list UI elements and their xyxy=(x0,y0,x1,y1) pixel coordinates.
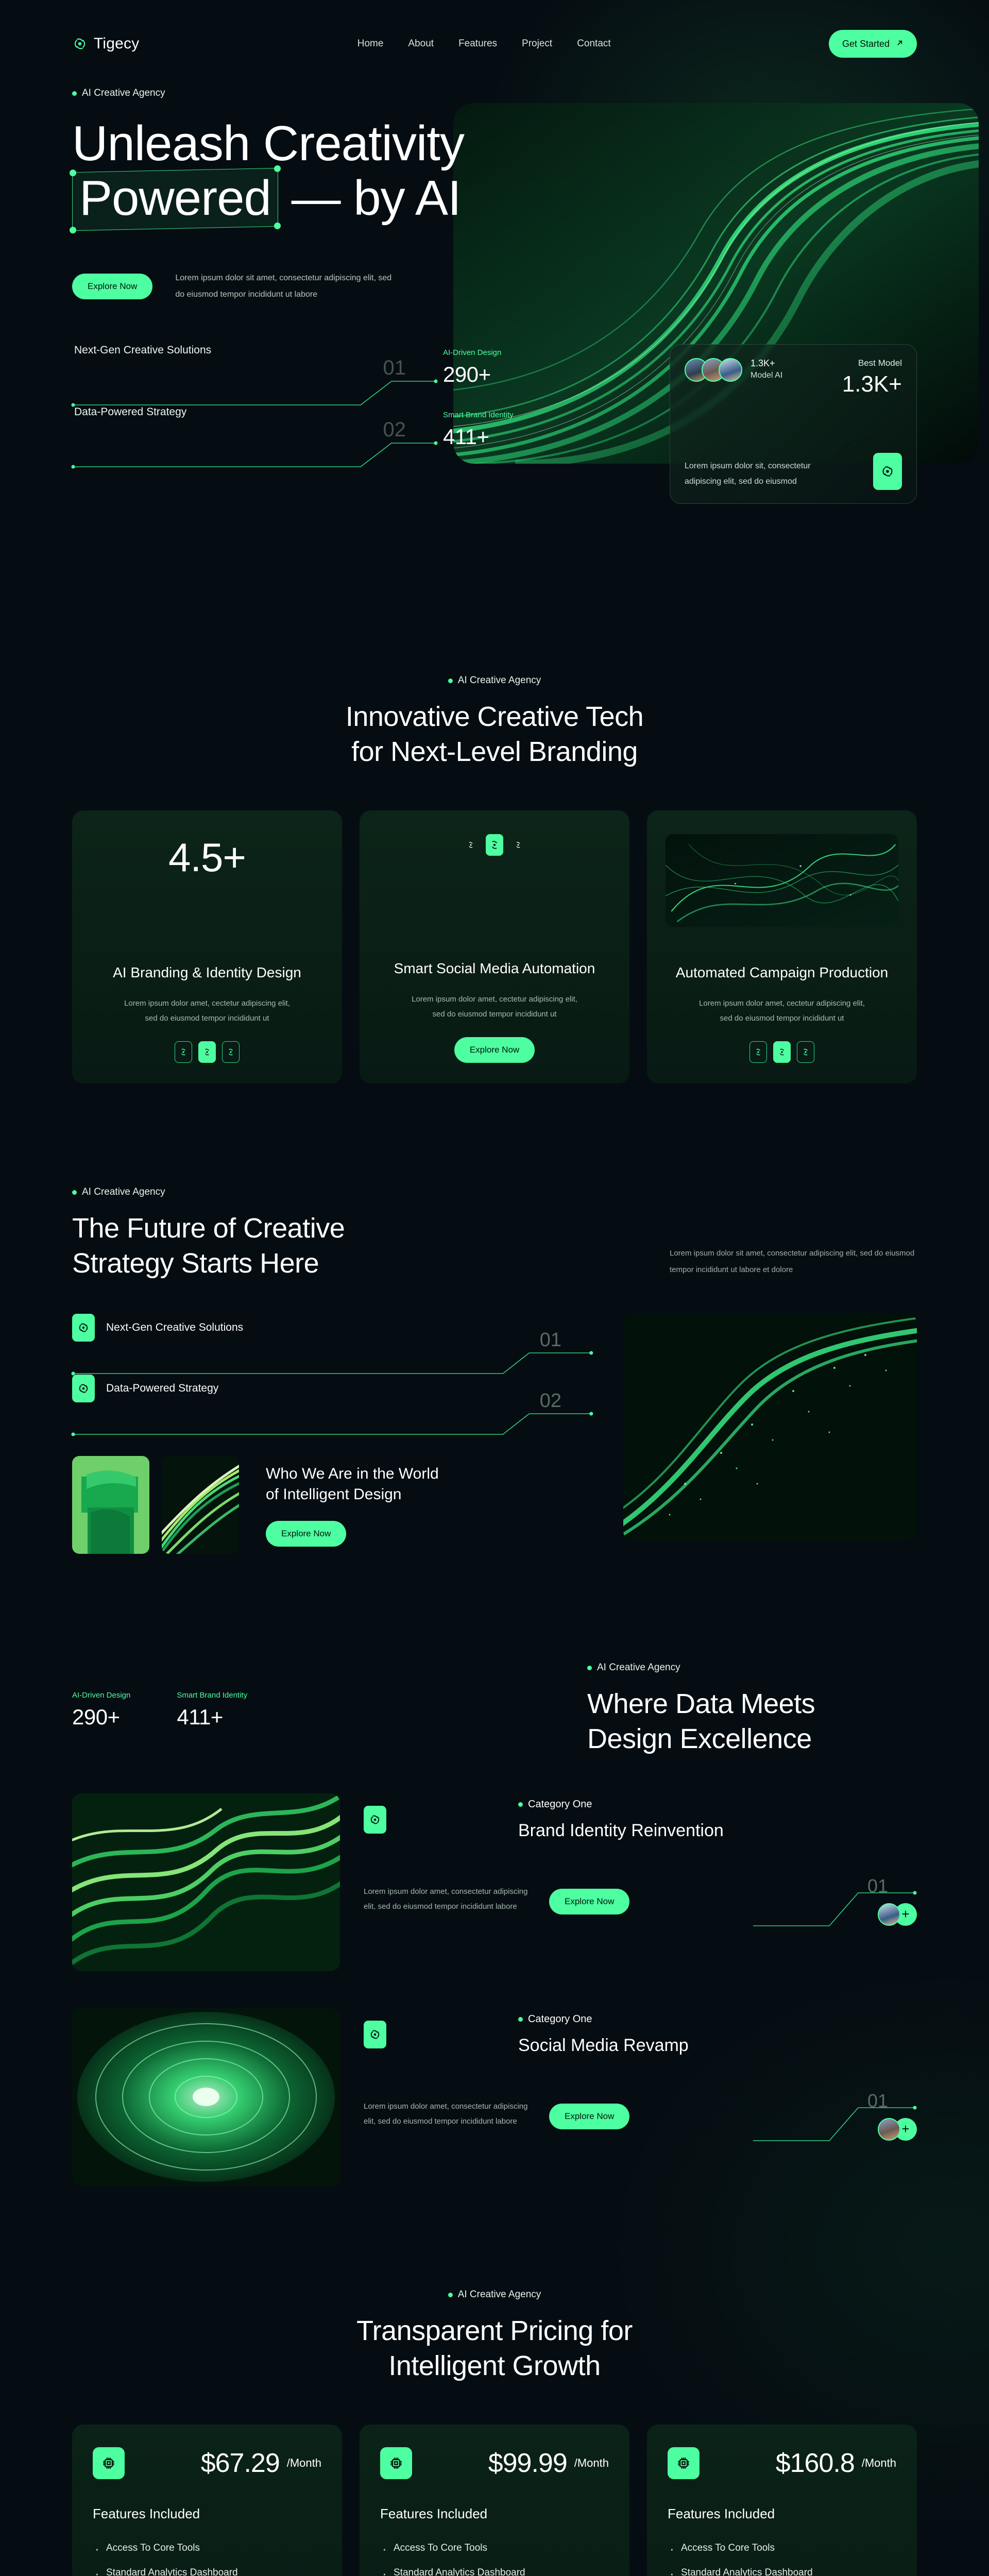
pricing-starter-features-heading: Features Included xyxy=(93,2506,321,2522)
nav-item-features[interactable]: Features xyxy=(458,38,497,49)
tigecy-mark-icon xyxy=(462,834,480,856)
feature-card-1-title: AI Branding & Identity Design xyxy=(113,963,301,982)
features-title: Innovative Creative Tech for Next-Level … xyxy=(72,700,917,769)
who-title: Who We Are in the World of Intelligent D… xyxy=(266,1464,439,1505)
project-1-text: Lorem ipsum dolor amet, consectetur adip… xyxy=(364,1884,528,1914)
features-eyebrow-label: AI Creative Agency xyxy=(458,675,541,686)
tigecy-mark-icon[interactable] xyxy=(486,834,503,856)
pricing-title: Transparent Pricing for Intelligent Grow… xyxy=(72,2314,917,2383)
list-item: Access To Core Tools xyxy=(380,2543,609,2554)
feature-card-3-image xyxy=(666,834,898,927)
future-row-1-number: 01 xyxy=(540,1329,561,1351)
tigecy-mark-icon xyxy=(364,2021,386,2048)
tigecy-mark-icon xyxy=(72,1314,95,1342)
promo-badge-value: 1.3K+ xyxy=(842,371,902,397)
future-head: The Future of Creative Strategy Starts H… xyxy=(72,1198,917,1281)
feature-card-3[interactable]: Automated Campaign Production Lorem ipsu… xyxy=(647,810,917,1083)
data-stat-1-key: AI-Driven Design xyxy=(72,1691,130,1700)
data-title-line2: Design Excellence xyxy=(587,1723,812,1754)
step-connector-line xyxy=(72,439,443,468)
avatar-group xyxy=(685,358,742,382)
future-eyebrow-label: AI Creative Agency xyxy=(82,1187,165,1198)
hero-stat-1-key: AI-Driven Design xyxy=(443,348,598,357)
project-2-text: Lorem ipsum dolor amet, consectetur adip… xyxy=(364,2099,528,2129)
data-stat-2-value: 411+ xyxy=(177,1705,247,1730)
get-started-label: Get Started xyxy=(842,39,890,49)
bullet-dot-icon xyxy=(587,1666,592,1670)
hero-subrow: Explore Now Lorem ipsum dolor sit amet, … xyxy=(72,270,917,303)
hero-stat-2-key: Smart Brand Identity xyxy=(443,411,598,419)
pricing-title-line1: Transparent Pricing for xyxy=(356,2315,633,2346)
feature-card-3-title: Automated Campaign Production xyxy=(676,963,888,982)
future-row-2[interactable]: Data-Powered Strategy 02 xyxy=(72,1375,598,1435)
nav-item-about[interactable]: About xyxy=(408,38,434,49)
hero-title-highlight: Powered xyxy=(79,171,271,226)
hero-stat-2: Smart Brand Identity 411+ xyxy=(443,411,598,449)
pricing-professional-amount: $160.8 xyxy=(776,2448,855,2479)
data-title-line1: Where Data Meets xyxy=(587,1688,815,1719)
hero-step-2-number: 02 xyxy=(383,418,406,442)
get-started-button[interactable]: Get Started xyxy=(829,30,917,58)
who-image-1 xyxy=(72,1456,149,1554)
tigecy-mark-icon xyxy=(72,1375,95,1402)
project-1-button[interactable]: Explore Now xyxy=(549,1889,629,1914)
hero-step-2-label: Data-Powered Strategy xyxy=(72,406,443,418)
promo-text: Lorem ipsum dolor sit, consectetur adipi… xyxy=(685,459,839,490)
pricing-eyebrow: AI Creative Agency xyxy=(72,2289,917,2300)
future-artwork xyxy=(623,1314,917,1540)
hero-section: AI Creative Agency Unleash Creativity Po… xyxy=(72,88,917,613)
tigecy-mark-icon[interactable] xyxy=(749,1041,767,1063)
data-eyebrow: AI Creative Agency xyxy=(587,1662,917,1673)
pricing-cards: $67.29 /Month Features Included Access T… xyxy=(72,2425,917,2576)
tigecy-mark-icon[interactable] xyxy=(175,1041,192,1063)
nav-item-contact[interactable]: Contact xyxy=(577,38,610,49)
hero-stat-1: AI-Driven Design 290+ xyxy=(443,348,598,387)
hero-stats: AI-Driven Design 290+ Smart Brand Identi… xyxy=(443,344,598,504)
who-image-2 xyxy=(162,1456,239,1554)
bullet-dot-icon xyxy=(518,2017,523,2022)
future-row-2-label: Data-Powered Strategy xyxy=(106,1382,218,1395)
hero-title-highlight-box: Powered xyxy=(72,170,278,229)
hero-bottom-strip: Next-Gen Creative Solutions 01 Data-Powe… xyxy=(72,344,917,504)
hero-title-rest: — by AI xyxy=(292,171,461,226)
feature-card-2-button[interactable]: Explore Now xyxy=(454,1037,535,1063)
hero-step-1-label: Next-Gen Creative Solutions xyxy=(72,344,443,357)
hero-paragraph: Lorem ipsum dolor sit amet, consectetur … xyxy=(175,270,391,303)
project-2-category: Category One xyxy=(518,2013,917,2025)
pricing-title-line2: Intelligent Growth xyxy=(388,2350,600,2381)
who-title-line1: Who We Are in the World xyxy=(266,1465,439,1482)
project-2-title: Social Media Revamp xyxy=(518,2036,917,2056)
list-item: Access To Core Tools xyxy=(668,2543,896,2554)
feature-card-3-icons xyxy=(749,1041,814,1063)
pricing-medium-per: /Month xyxy=(574,2456,609,2470)
who-we-are: Who We Are in the World of Intelligent D… xyxy=(72,1456,598,1554)
project-1-title: Brand Identity Reinvention xyxy=(518,1821,917,1841)
pricing-card-professional[interactable]: $160.8 /Month Features Included Access T… xyxy=(647,2425,917,2576)
site-header: Tigecy Home About Features Project Conta… xyxy=(72,0,917,88)
future-section: AI Creative Agency The Future of Creativ… xyxy=(72,1083,917,1554)
future-title-line1: The Future of Creative xyxy=(72,1213,345,1244)
pricing-starter-features: Access To Core Tools Standard Analytics … xyxy=(93,2543,321,2576)
features-eyebrow: AI Creative Agency xyxy=(72,675,917,686)
avatar xyxy=(878,2118,900,2141)
pricing-medium-features: Access To Core Tools Standard Analytics … xyxy=(380,2543,609,2576)
tigecy-mark-icon xyxy=(509,834,527,856)
data-stat-2: Smart Brand Identity 411+ xyxy=(177,1691,247,1730)
feature-card-1-icons xyxy=(175,1041,240,1063)
promo-count: 1.3K+ xyxy=(751,358,782,369)
features-title-line1: Innovative Creative Tech xyxy=(346,701,643,732)
bullet-dot-icon xyxy=(72,91,77,96)
avatar xyxy=(719,358,742,382)
primary-nav: Home About Features Project Contact xyxy=(357,38,611,49)
row-connector-line xyxy=(72,1350,598,1375)
brand-name: Tigecy xyxy=(94,35,139,53)
bullet-dot-icon xyxy=(448,2293,453,2297)
arrow-up-right-icon xyxy=(896,39,903,49)
hero-eyebrow: AI Creative Agency xyxy=(72,88,917,99)
who-title-line2: of Intelligent Design xyxy=(266,1486,402,1503)
feature-card-2-text: Lorem ipsum dolor amet, cectetur adipisc… xyxy=(410,992,579,1022)
tigecy-mark-icon xyxy=(873,453,902,490)
list-item: Standard Analytics Dashboard xyxy=(380,2567,609,2576)
promo-count-label: Model AI xyxy=(751,371,782,380)
feature-card-2[interactable]: Smart Social Media Automation Lorem ipsu… xyxy=(360,810,629,1083)
who-explore-button[interactable]: Explore Now xyxy=(266,1521,346,1547)
pricing-starter-per: /Month xyxy=(287,2456,321,2470)
chip-icon xyxy=(93,2447,125,2479)
data-section: AI-Driven Design 290+ Smart Brand Identi… xyxy=(72,1554,917,2186)
pricing-medium-features-heading: Features Included xyxy=(380,2506,609,2522)
hero-eyebrow-label: AI Creative Agency xyxy=(82,88,165,99)
step-connector-line xyxy=(72,377,443,406)
feature-cards: 4.5+ AI Branding & Identity Design Lorem… xyxy=(72,810,917,1083)
project-1-category: Category One xyxy=(518,1799,917,1810)
feature-card-2-title: Smart Social Media Automation xyxy=(394,959,595,978)
hero-title: Unleash Creativity Powered — by AI xyxy=(72,117,917,229)
data-eyebrow-label: AI Creative Agency xyxy=(597,1662,680,1673)
data-stat-2-key: Smart Brand Identity xyxy=(177,1691,247,1700)
project-2-avatars: + xyxy=(878,2118,917,2141)
future-title-line2: Strategy Starts Here xyxy=(72,1248,319,1279)
tigecy-mark-icon xyxy=(72,36,88,52)
project-1-number: 01 xyxy=(867,1875,888,1897)
data-stat-1: AI-Driven Design 290+ xyxy=(72,1691,130,1730)
future-row-2-number: 02 xyxy=(540,1390,561,1412)
future-row-1[interactable]: Next-Gen Creative Solutions 01 xyxy=(72,1314,598,1375)
hero-step-2[interactable]: Data-Powered Strategy 02 xyxy=(72,406,443,468)
data-title: Where Data Meets Design Excellence xyxy=(587,1687,917,1756)
project-2-button[interactable]: Explore Now xyxy=(549,2104,629,2129)
list-item: Standard Analytics Dashboard xyxy=(93,2567,321,2576)
project-row-2[interactable]: Category One Social Media Revamp Lorem i… xyxy=(72,2008,917,2186)
project-2-number: 01 xyxy=(867,2090,888,2112)
list-item: Access To Core Tools xyxy=(93,2543,321,2554)
chip-icon xyxy=(380,2447,412,2479)
promo-badge-label: Best Model xyxy=(842,358,902,368)
nav-item-home[interactable]: Home xyxy=(357,38,384,49)
hero-explore-button[interactable]: Explore Now xyxy=(72,274,152,299)
hero-steps: Next-Gen Creative Solutions 01 Data-Powe… xyxy=(72,344,443,504)
feature-card-2-icons xyxy=(462,834,527,856)
pricing-medium-amount: $99.99 xyxy=(488,2448,567,2479)
project-1-image xyxy=(72,1793,340,1971)
feature-card-3-text: Lorem ipsum dolor amet, cectetur adipisc… xyxy=(697,996,867,1026)
future-title: The Future of Creative Strategy Starts H… xyxy=(72,1211,345,1281)
pricing-section: AI Creative Agency Transparent Pricing f… xyxy=(72,2186,917,2576)
tigecy-mark-icon[interactable] xyxy=(773,1041,791,1063)
hero-stat-2-value: 411+ xyxy=(443,425,598,449)
row-connector-line xyxy=(72,1411,598,1435)
brand-logo[interactable]: Tigecy xyxy=(72,35,139,53)
hero-title-line1: Unleash Creativity xyxy=(72,116,464,171)
project-2-image xyxy=(72,2008,340,2186)
hero-step-1-number: 01 xyxy=(383,357,406,380)
data-stat-1-value: 290+ xyxy=(72,1705,130,1730)
future-paragraph: Lorem ipsum dolor sit amet, consectetur … xyxy=(670,1245,917,1281)
chip-icon xyxy=(668,2447,700,2479)
future-rows: Next-Gen Creative Solutions 01 Data-Powe… xyxy=(72,1314,598,1554)
future-body: Next-Gen Creative Solutions 01 Data-Powe… xyxy=(72,1314,917,1554)
project-1-category-label: Category One xyxy=(528,1799,592,1810)
nav-item-project[interactable]: Project xyxy=(522,38,552,49)
pricing-professional-per: /Month xyxy=(862,2456,896,2470)
features-title-line2: for Next-Level Branding xyxy=(351,736,638,767)
hero-promo-card: 1.3K+ Model AI Best Model 1.3K+ Lorem ip… xyxy=(670,344,917,504)
future-eyebrow: AI Creative Agency xyxy=(72,1187,917,1198)
feature-card-1[interactable]: 4.5+ AI Branding & Identity Design Lorem… xyxy=(72,810,342,1083)
data-stats: AI-Driven Design 290+ Smart Brand Identi… xyxy=(72,1691,247,1756)
data-head: AI-Driven Design 290+ Smart Brand Identi… xyxy=(72,1662,917,1756)
bullet-dot-icon xyxy=(448,679,453,683)
tigecy-mark-icon[interactable] xyxy=(198,1041,216,1063)
tigecy-mark-icon[interactable] xyxy=(222,1041,240,1063)
list-item: Standard Analytics Dashboard xyxy=(668,2567,896,2576)
bullet-dot-icon xyxy=(518,1802,523,1807)
pricing-professional-features: Access To Core Tools Standard Analytics … xyxy=(668,2543,896,2576)
feature-card-1-text: Lorem ipsum dolor amet, cectetur adipisc… xyxy=(122,996,292,1026)
project-row-1[interactable]: Category One Brand Identity Reinvention … xyxy=(72,1793,917,1971)
tigecy-mark-icon xyxy=(364,1806,386,1834)
pricing-eyebrow-label: AI Creative Agency xyxy=(458,2289,541,2300)
hero-step-1[interactable]: Next-Gen Creative Solutions 01 xyxy=(72,344,443,406)
pricing-professional-features-heading: Features Included xyxy=(668,2506,896,2522)
bullet-dot-icon xyxy=(72,1190,77,1195)
pricing-card-medium[interactable]: $99.99 /Month Features Included Access T… xyxy=(360,2425,629,2576)
future-row-1-label: Next-Gen Creative Solutions xyxy=(106,1321,243,1334)
project-2-category-label: Category One xyxy=(528,2013,592,2025)
feature-card-1-metric: 4.5+ xyxy=(168,834,246,881)
features-section: AI Creative Agency Innovative Creative T… xyxy=(72,613,917,1083)
hero-stat-1-value: 290+ xyxy=(443,362,598,387)
pricing-starter-amount: $67.29 xyxy=(201,2448,280,2479)
pricing-card-starter[interactable]: $67.29 /Month Features Included Access T… xyxy=(72,2425,342,2576)
tigecy-mark-icon[interactable] xyxy=(797,1041,814,1063)
project-1-avatars: + xyxy=(878,1903,917,1926)
avatar xyxy=(878,1903,900,1926)
